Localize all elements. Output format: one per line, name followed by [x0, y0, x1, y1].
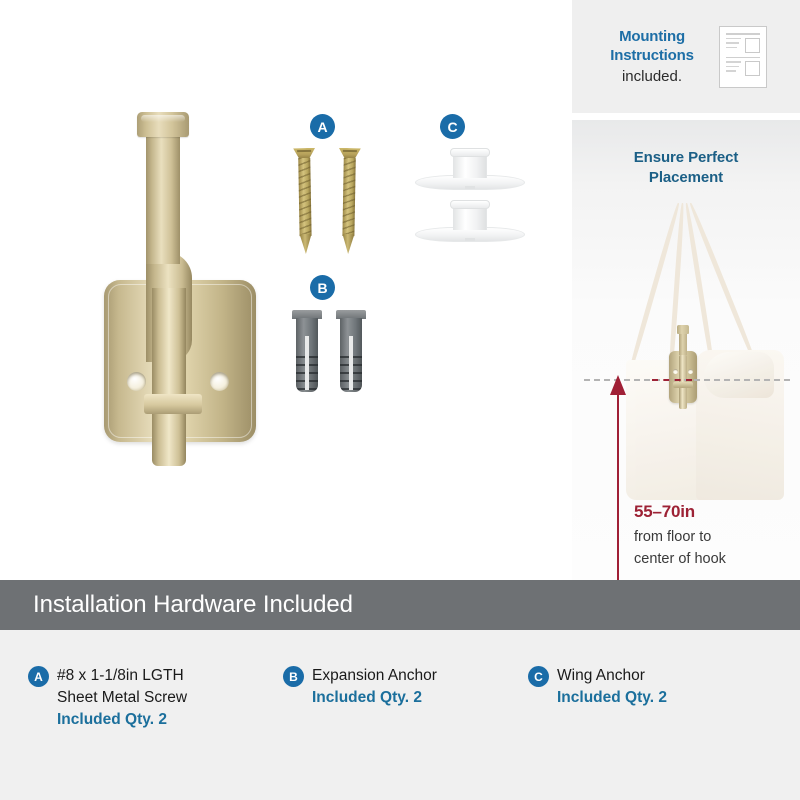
mini-hook-finial — [677, 325, 689, 334]
wing-notch — [465, 238, 475, 241]
measurement-desc-line1: from floor to — [634, 526, 794, 548]
hero-product-area: A B — [0, 0, 572, 580]
wing-cylinder — [453, 156, 487, 178]
legend-badge-c: C — [528, 666, 549, 687]
measurement-value: 55–70in — [634, 502, 794, 522]
mini-hook-lip — [673, 382, 693, 388]
screw-1 — [293, 148, 317, 256]
hook-lower-arm — [152, 288, 186, 466]
sheet-metal-screws-image — [290, 148, 376, 256]
legend-text-a: #8 x 1-1/8in LGTH Sheet Metal Screw Incl… — [28, 665, 278, 731]
wing-anchor-2 — [415, 200, 525, 246]
mounting-instructions-panel: Mounting Instructions included. — [572, 0, 800, 113]
measurement-desc-line2: center of hook — [634, 548, 794, 570]
measurement-arrow-shaft — [617, 392, 619, 580]
screw-shank — [342, 158, 355, 236]
part-badge-c: C — [440, 114, 465, 139]
part-badge-b: B — [310, 275, 335, 300]
hook-screw-hole-right — [210, 372, 229, 391]
legend-name-line1: Expansion Anchor — [312, 665, 528, 687]
doc-thumbnail-box — [745, 38, 760, 53]
legend-item-a: A #8 x 1-1/8in LGTH Sheet Metal Screw In… — [28, 665, 278, 731]
screw-shank — [298, 158, 311, 236]
wing-anchors-image — [415, 148, 525, 256]
mounting-instructions-text: Mounting Instructions included. — [572, 27, 718, 86]
legend-qty: Included Qty. 2 — [57, 709, 278, 731]
placement-panel: Ensure Perfect Placement — [572, 120, 800, 580]
expansion-anchor-1 — [292, 310, 322, 392]
anchor-slot — [349, 336, 353, 390]
legend-name-line2: Sheet Metal Screw — [57, 687, 278, 709]
placement-title: Ensure Perfect Placement — [572, 148, 800, 188]
placement-title-line2: Placement — [572, 168, 800, 188]
hardware-legend: A #8 x 1-1/8in LGTH Sheet Metal Screw In… — [0, 630, 800, 800]
legend-item-c: C Wing Anchor Included Qty. 2 — [528, 665, 773, 709]
doc-thumbnail-box — [745, 61, 760, 76]
legend-item-b: B Expansion Anchor Included Qty. 2 — [283, 665, 528, 709]
mounting-title-line1: Mounting — [586, 27, 718, 46]
right-panel-column: Mounting Instructions included. — [572, 0, 800, 580]
anchor-slot — [305, 336, 309, 390]
wall-hook-product-image — [104, 112, 256, 442]
document-page-icon — [719, 26, 767, 88]
legend-text-b: Expansion Anchor Included Qty. 2 — [283, 665, 528, 709]
expansion-anchor-2 — [336, 310, 366, 392]
legend-badge-a: A — [28, 666, 49, 687]
legend-text-c: Wing Anchor Included Qty. 2 — [528, 665, 773, 709]
mini-hook-screw-hole-left — [673, 369, 678, 374]
wing-cap — [450, 200, 490, 209]
legend-name-line1: #8 x 1-1/8in LGTH — [57, 665, 278, 687]
wing-cap — [450, 148, 490, 157]
mounting-subtitle: included. — [586, 67, 718, 86]
center-line-guide-highlight — [652, 379, 692, 381]
placement-title-line1: Ensure Perfect — [572, 148, 800, 168]
screw-2 — [337, 148, 361, 256]
legend-qty: Included Qty. 2 — [557, 687, 773, 709]
part-badge-a: A — [310, 114, 335, 139]
legend-name-line1: Wing Anchor — [557, 665, 773, 687]
screw-tip — [300, 234, 312, 254]
hook-screw-hole-left — [127, 372, 146, 391]
expansion-anchors-image — [290, 310, 376, 392]
hook-upper-arm — [146, 134, 180, 264]
hanging-bag-illustration — [624, 200, 794, 500]
measurement-callout: 55–70in from floor to center of hook — [634, 502, 794, 571]
hook-finial — [137, 112, 189, 137]
infographic-page: A B — [0, 0, 800, 800]
mini-hook-neck — [679, 333, 687, 355]
hardware-banner: Installation Hardware Included — [0, 580, 800, 630]
mounting-title-line2: Instructions — [586, 46, 718, 65]
mini-hook-screw-hole-right — [688, 369, 693, 374]
legend-qty: Included Qty. 2 — [312, 687, 528, 709]
wing-cylinder — [453, 208, 487, 230]
wing-notch — [465, 186, 475, 189]
hook-lip — [144, 394, 202, 414]
bag-fold — [704, 352, 774, 398]
legend-badge-b: B — [283, 666, 304, 687]
hardware-banner-title: Installation Hardware Included — [0, 591, 353, 619]
screw-tip — [342, 234, 354, 254]
wing-anchor-1 — [415, 148, 525, 194]
